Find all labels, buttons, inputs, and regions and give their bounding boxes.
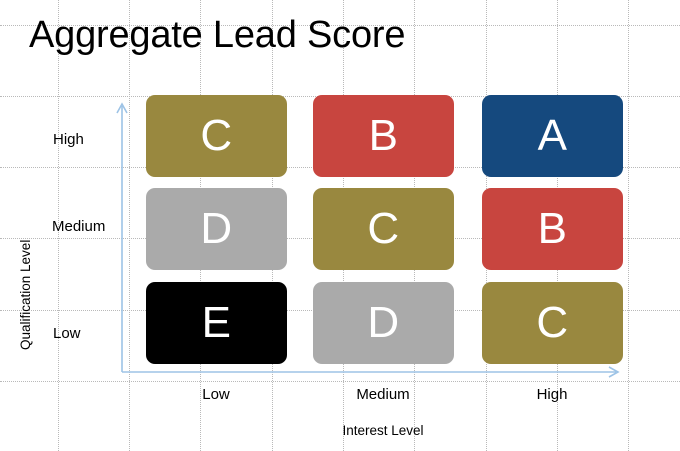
matrix-cell-low-medium[interactable]: D: [313, 282, 454, 364]
x-axis-title: Interest Level: [303, 423, 463, 438]
cell-grade-label: D: [200, 207, 232, 251]
matrix-cell-low-high[interactable]: C: [482, 282, 623, 364]
matrix-cell-low-low[interactable]: E: [146, 282, 287, 364]
cell-grade-label: C: [536, 301, 568, 345]
x-tick-high: High: [512, 386, 592, 403]
y-axis-title: Qualification Level: [18, 240, 33, 350]
matrix-cell-medium-high[interactable]: B: [482, 188, 623, 270]
cell-grade-label: D: [367, 301, 399, 345]
matrix-cell-medium-low[interactable]: D: [146, 188, 287, 270]
matrix-cell-high-low[interactable]: C: [146, 95, 287, 177]
x-tick-medium: Medium: [343, 386, 423, 403]
y-tick-high: High: [53, 131, 84, 148]
matrix-cell-high-high[interactable]: A: [482, 95, 623, 177]
cell-grade-label: B: [538, 207, 568, 251]
x-tick-low: Low: [176, 386, 256, 403]
slide-canvas: Aggregate Lead Score C B A D C B: [0, 0, 680, 451]
cell-grade-label: A: [538, 114, 568, 158]
cell-grade-label: C: [367, 207, 399, 251]
y-tick-low: Low: [53, 325, 81, 342]
y-tick-medium: Medium: [52, 218, 105, 235]
matrix-cell-medium-medium[interactable]: C: [313, 188, 454, 270]
cell-grade-label: E: [202, 301, 232, 345]
cell-grade-label: B: [369, 114, 399, 158]
cell-grade-label: C: [200, 114, 232, 158]
matrix-cell-high-medium[interactable]: B: [313, 95, 454, 177]
